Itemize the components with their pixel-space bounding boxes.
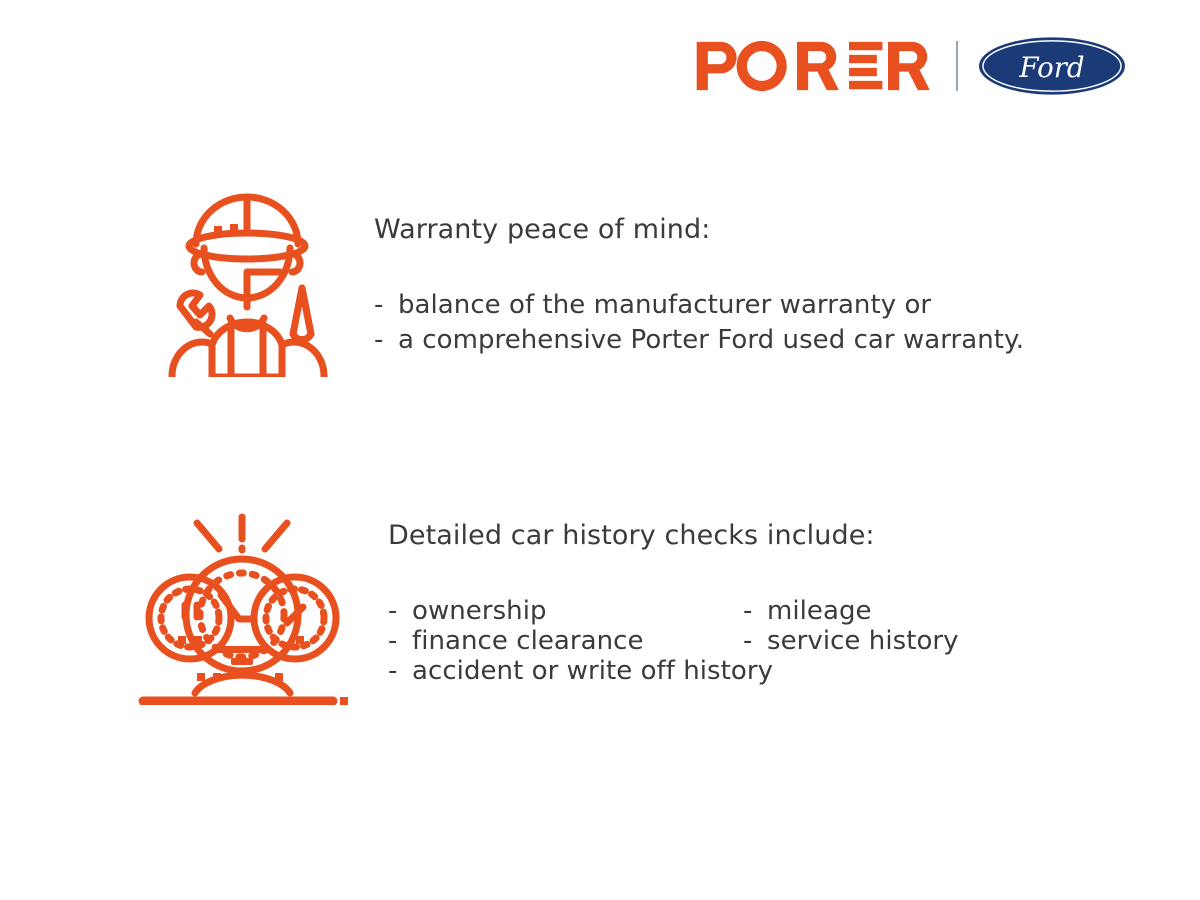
history-text-block: Detailed car history checks include: - o… [388,505,959,686]
bullet-dash: - [743,596,767,626]
dashboard-gauge-cluster-icon [135,505,350,710]
bullet-label: balance of the manufacturer warranty or [398,288,931,323]
slide-canvas: Ford [0,0,1200,900]
logo-divider [956,41,958,91]
bullet-cell-right: - mileage [743,596,872,626]
bullet-label: accident or write off history [412,656,773,686]
bullet-label: ownership [412,596,547,626]
bullet-dash: - [374,288,398,323]
porter-wordmark-logo [686,40,934,92]
list-item: - a comprehensive Porter Ford used car w… [374,323,1024,358]
brand-logo-lockup: Ford [686,33,1126,99]
bullet-dash: - [743,626,767,656]
bullet-label: mileage [767,596,872,626]
list-item: - finance clearance - service history [388,626,959,656]
bullet-dash: - [388,626,412,656]
section-car-history: Detailed car history checks include: - o… [135,505,959,710]
bullet-label: finance clearance [412,626,644,656]
bullet-cell-right: - service history [743,626,959,656]
mechanic-hardhat-tools-icon [152,182,342,382]
bullet-label: service history [767,626,959,656]
bullet-dash: - [388,596,412,626]
section-warranty: Warranty peace of mind: - balance of the… [152,182,1024,382]
history-bullet-grid: - ownership - mileage - finance clearanc… [388,596,959,686]
svg-text:Ford: Ford [1018,51,1084,84]
list-item: - balance of the manufacturer warranty o… [374,288,1024,323]
bullet-dash: - [374,323,398,358]
bullet-cell-left: - ownership [388,596,743,626]
bullet-cell-left: - accident or write off history [388,656,743,686]
bullet-label: a comprehensive Porter Ford used car war… [398,323,1024,358]
warranty-bullet-list: - balance of the manufacturer warranty o… [374,288,1024,357]
ford-oval-logo: Ford [978,36,1126,96]
list-item: - accident or write off history [388,656,959,686]
bullet-dash: - [388,656,412,686]
history-heading: Detailed car history checks include: [388,520,959,552]
bullet-cell-left: - finance clearance [388,626,743,656]
warranty-heading: Warranty peace of mind: [374,214,1024,246]
list-item: - ownership - mileage [388,596,959,626]
warranty-text-block: Warranty peace of mind: - balance of the… [374,182,1024,358]
